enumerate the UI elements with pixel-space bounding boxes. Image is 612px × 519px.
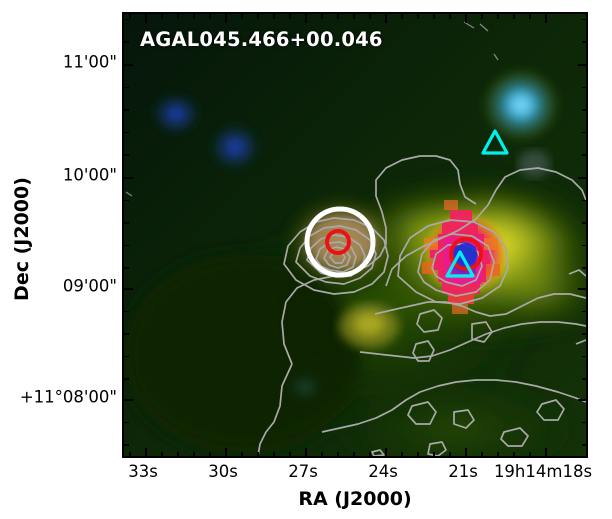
y-tick-left xyxy=(124,245,129,247)
y-tick-right xyxy=(582,356,587,358)
x-tick-bottom xyxy=(465,448,467,457)
x-tick-bottom xyxy=(545,448,547,457)
y-tick-right xyxy=(582,333,587,335)
x-tick-bottom xyxy=(289,452,291,457)
sky-image xyxy=(124,14,586,456)
faint-source-s xyxy=(287,373,323,401)
faint-grey-source xyxy=(518,150,550,178)
y-tick-left xyxy=(124,41,129,43)
y-tick-left xyxy=(124,378,129,380)
x-tick-bottom xyxy=(161,452,163,457)
y-tick-right xyxy=(582,200,587,202)
y-tick-right xyxy=(578,177,587,179)
x-tick-top xyxy=(449,14,451,19)
x-tick-bottom xyxy=(385,448,387,457)
y-tick-label-0: 11'00" xyxy=(63,53,117,72)
y-tick-right xyxy=(582,132,587,134)
x-tick-top xyxy=(193,14,195,19)
y-tick-right xyxy=(578,64,587,66)
x-tick-top xyxy=(241,14,243,19)
x-tick-bottom xyxy=(449,452,451,457)
x-tick-bottom xyxy=(225,448,227,457)
y-tick-right xyxy=(582,311,587,313)
x-tick-top xyxy=(481,14,483,19)
x-tick-top xyxy=(257,14,259,19)
x-tick-label-5: 19h14m18s xyxy=(494,462,592,481)
x-tick-top xyxy=(401,14,403,19)
y-tick-right xyxy=(582,222,587,224)
y-tick-left xyxy=(124,222,129,224)
x-tick-top xyxy=(289,14,291,19)
y-tick-right xyxy=(578,399,587,401)
x-tick-top xyxy=(129,14,131,19)
x-tick-bottom xyxy=(481,452,483,457)
y-tick-left xyxy=(124,132,129,134)
x-tick-bottom xyxy=(321,452,323,457)
y-tick-right xyxy=(582,41,587,43)
x-tick-top xyxy=(497,14,499,19)
x-tick-bottom xyxy=(193,452,195,457)
y-tick-right xyxy=(582,378,587,380)
y-tick-left xyxy=(124,333,129,335)
x-tick-bottom xyxy=(497,452,499,457)
x-tick-top xyxy=(177,14,179,19)
figure-root: { "figure": { "title": "AGAL045.466+00.0… xyxy=(0,0,612,519)
y-tick-label-3: +11°08'00" xyxy=(20,388,117,407)
x-tick-bottom xyxy=(257,452,259,457)
x-tick-bottom xyxy=(273,452,275,457)
y-tick-right xyxy=(582,267,587,269)
y-tick-right xyxy=(582,245,587,247)
y-tick-right xyxy=(582,422,587,424)
x-tick-label-3: 24s xyxy=(368,462,398,481)
x-tick-top xyxy=(513,14,515,19)
x-tick-top xyxy=(369,14,371,19)
x-tick-top xyxy=(145,14,147,23)
y-tick-left xyxy=(124,109,129,111)
y-tick-left xyxy=(124,19,129,21)
x-tick-bottom xyxy=(529,452,531,457)
y-tick-right xyxy=(582,444,587,446)
y-tick-label-1: 10'00" xyxy=(63,166,117,185)
x-tick-top xyxy=(385,14,387,23)
x-tick-top xyxy=(433,14,435,19)
y-tick-label-2: 09'00" xyxy=(63,277,117,296)
x-tick-top xyxy=(529,14,531,19)
x-axis-title: RA (J2000) xyxy=(122,488,588,510)
x-tick-bottom xyxy=(337,452,339,457)
x-tick-bottom xyxy=(177,452,179,457)
y-tick-left xyxy=(124,444,129,446)
x-tick-bottom xyxy=(369,452,371,457)
y-tick-right xyxy=(582,87,587,89)
x-tick-bottom xyxy=(129,452,131,457)
x-tick-label-1: 30s xyxy=(208,462,238,481)
y-tick-left xyxy=(124,177,133,179)
x-tick-label-4: 21s xyxy=(448,462,478,481)
x-tick-bottom xyxy=(305,448,307,457)
y-tick-left xyxy=(124,288,133,290)
y-tick-left xyxy=(124,267,129,269)
x-tick-top xyxy=(225,14,227,23)
y-tick-left xyxy=(124,399,133,401)
y-tick-left xyxy=(124,422,129,424)
x-tick-bottom xyxy=(513,452,515,457)
y-tick-left xyxy=(124,200,129,202)
x-tick-label-0: 33s xyxy=(128,462,158,481)
x-tick-labels: 33s30s27s24s21s19h14m18s xyxy=(0,462,612,486)
y-tick-right xyxy=(578,288,587,290)
y-tick-left xyxy=(124,311,129,313)
page-title: AGAL045.466+00.046 xyxy=(140,28,383,51)
x-tick-bottom xyxy=(401,452,403,457)
x-tick-top xyxy=(417,14,419,19)
x-tick-top xyxy=(465,14,467,23)
x-tick-bottom xyxy=(417,452,419,457)
y-tick-left xyxy=(124,154,129,156)
x-tick-top xyxy=(161,14,163,19)
x-tick-top xyxy=(209,14,211,19)
x-tick-bottom xyxy=(353,452,355,457)
blue-source-n xyxy=(208,122,262,172)
y-tick-left xyxy=(124,64,133,66)
sky-image-panel[interactable]: AGAL045.466+00.046 xyxy=(122,12,588,458)
x-tick-top xyxy=(545,14,547,23)
x-tick-top xyxy=(353,14,355,19)
x-tick-top xyxy=(321,14,323,19)
x-tick-bottom xyxy=(433,452,435,457)
x-tick-top xyxy=(337,14,339,19)
x-tick-top xyxy=(273,14,275,19)
x-tick-top xyxy=(305,14,307,23)
y-tick-right xyxy=(582,109,587,111)
image-clip xyxy=(124,14,586,456)
x-tick-label-2: 27s xyxy=(288,462,318,481)
x-tick-bottom xyxy=(241,452,243,457)
x-tick-bottom xyxy=(145,448,147,457)
x-tick-bottom xyxy=(209,452,211,457)
y-tick-left xyxy=(124,87,129,89)
y-tick-right xyxy=(582,19,587,21)
y-tick-right xyxy=(582,154,587,156)
y-tick-left xyxy=(124,356,129,358)
y-axis-title: Dec (J2000) xyxy=(11,129,33,349)
blue-source-nw xyxy=(150,92,202,136)
